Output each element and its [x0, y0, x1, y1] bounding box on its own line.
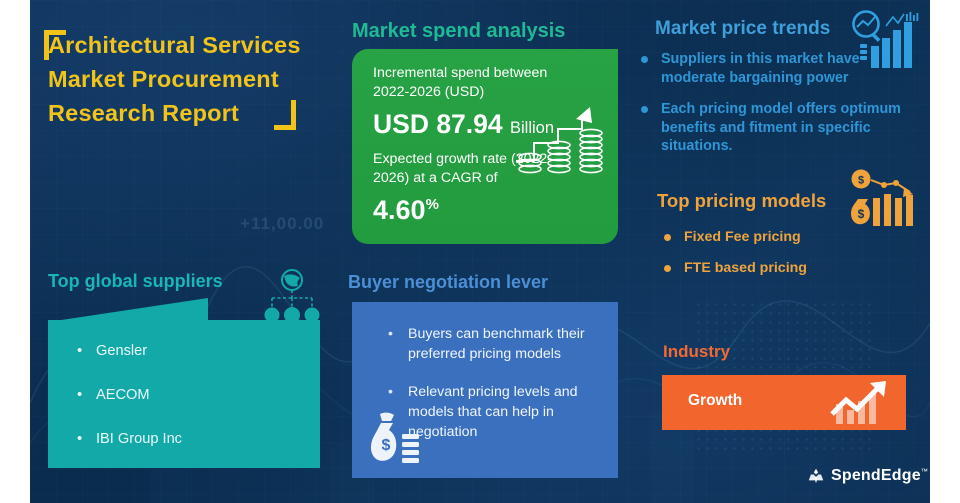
list-item: AECOM	[74, 386, 182, 405]
bracket-bottom-right-decoration	[274, 100, 296, 130]
spend-amount: USD 87.94	[373, 109, 503, 139]
top-global-suppliers-card: Gensler AECOM IBI Group Inc	[48, 320, 320, 468]
market-spend-heading: Market spend analysis	[352, 20, 565, 43]
cagr-number: 4.60	[373, 195, 426, 225]
list-item: Fixed Fee pricing	[662, 228, 922, 247]
svg-text:$: $	[858, 175, 864, 187]
industry-status-card: Growth	[662, 375, 906, 430]
money-bag-declining-chart-icon: $ $	[848, 168, 920, 230]
list-item: FTE based pricing	[662, 259, 922, 278]
coin-stack-growth-icon	[512, 99, 610, 175]
magnifier-bar-chart-icon	[848, 10, 920, 72]
cagr-percent-symbol: %	[426, 196, 439, 213]
industry-status-label: Growth	[688, 392, 742, 410]
report-title: Architectural Services Market Procuremen…	[48, 28, 348, 130]
trademark-symbol: ™	[921, 469, 928, 476]
title-line-2: Market Procurement	[48, 62, 348, 96]
list-item: Buyers can benchmark their preferred pri…	[384, 324, 606, 364]
cagr-value: 4.60%	[373, 195, 439, 226]
list-item: IBI Group Inc	[74, 430, 182, 449]
background-watermark: +11,00.00	[240, 214, 324, 234]
spendedge-logo: SpendEdge™	[808, 463, 928, 489]
list-item: Each pricing model offers optimum benefi…	[641, 100, 921, 156]
top-global-suppliers-heading: Top global suppliers	[48, 271, 223, 292]
buyer-negotiation-lever-card: Buyers can benchmark their preferred pri…	[352, 302, 618, 478]
spendedge-logo-text: SpendEdge™	[831, 467, 928, 485]
list-item: Gensler	[74, 342, 182, 361]
growth-arrow-chart-icon	[830, 380, 896, 426]
title-line-1: Architectural Services	[48, 28, 348, 62]
title-line-3: Research Report	[48, 96, 348, 130]
speech-bubble-tail	[48, 298, 208, 322]
svg-text:$: $	[382, 437, 391, 454]
svg-text:$: $	[858, 207, 865, 221]
brand-name: SpendEdge	[831, 467, 921, 484]
globe-network-icon	[258, 268, 326, 324]
market-spend-card: Incremental spend between 2022-2026 (USD…	[352, 49, 618, 244]
buyer-negotiation-lever-heading: Buyer negotiation lever	[348, 272, 548, 293]
supplier-list: Gensler AECOM IBI Group Inc	[74, 342, 182, 474]
spendedge-logo-mark-icon	[808, 466, 824, 486]
market-price-trends-heading: Market price trends	[655, 18, 830, 40]
industry-heading: Industry	[663, 342, 730, 362]
bracket-top-left-decoration	[44, 30, 66, 60]
infographic-canvas: +11,00.00 Architectural Services Market …	[0, 0, 960, 503]
top-pricing-models-list: Fixed Fee pricing FTE based pricing	[662, 228, 922, 290]
incremental-spend-label: Incremental spend between 2022-2026 (USD…	[373, 64, 573, 102]
money-bag-icon: $	[366, 410, 424, 468]
top-pricing-models-heading: Top pricing models	[657, 190, 826, 212]
